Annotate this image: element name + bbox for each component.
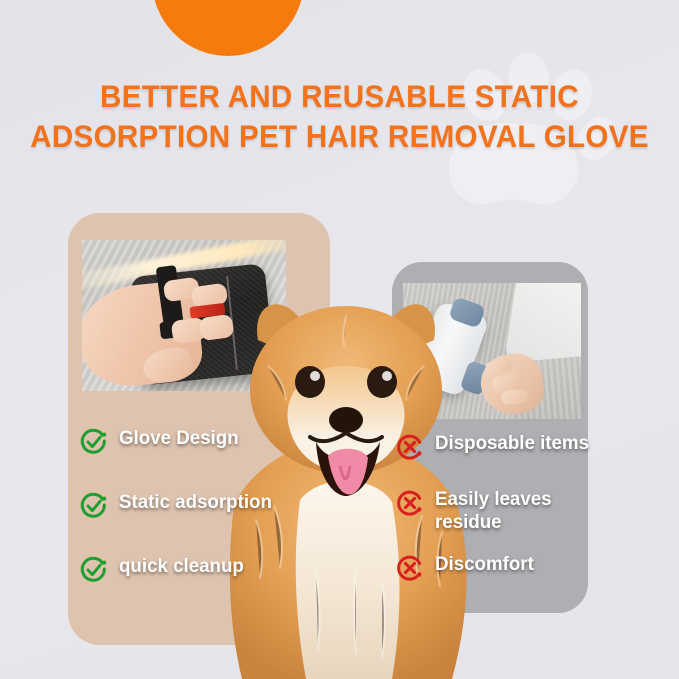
feature-item-quick-cleanup: quick cleanup <box>80 555 249 584</box>
product-infographic: BETTER AND REUSABLE STATIC ADSORPTION PE… <box>0 0 679 679</box>
feature-label: Disposable items <box>435 432 589 455</box>
check-circle-icon <box>80 428 108 456</box>
check-circle-icon <box>80 492 108 520</box>
orange-circle-decor <box>152 0 304 56</box>
cross-circle-icon <box>396 554 424 582</box>
feature-item-easily-leaves-residue: Easily leaves residue <box>396 488 556 534</box>
feature-label: quick cleanup <box>119 555 244 578</box>
feature-label: Easily leaves residue <box>435 488 552 534</box>
pomeranian-dog-photo <box>196 270 496 679</box>
feature-item-static-adsorption: Static adsorption <box>80 491 278 520</box>
cross-circle-icon <box>396 489 424 517</box>
feature-label: Discomfort <box>435 553 534 576</box>
feature-item-glove-design: Glove Design <box>80 427 244 456</box>
feature-label: Glove Design <box>119 427 239 450</box>
feature-item-discomfort: Discomfort <box>396 553 538 582</box>
feature-label: Static adsorption <box>119 491 272 514</box>
cross-circle-icon <box>396 433 424 461</box>
page-title: BETTER AND REUSABLE STATIC ADSORPTION PE… <box>20 76 658 156</box>
check-circle-icon <box>80 556 108 584</box>
feature-item-disposable-items: Disposable items <box>396 432 595 461</box>
